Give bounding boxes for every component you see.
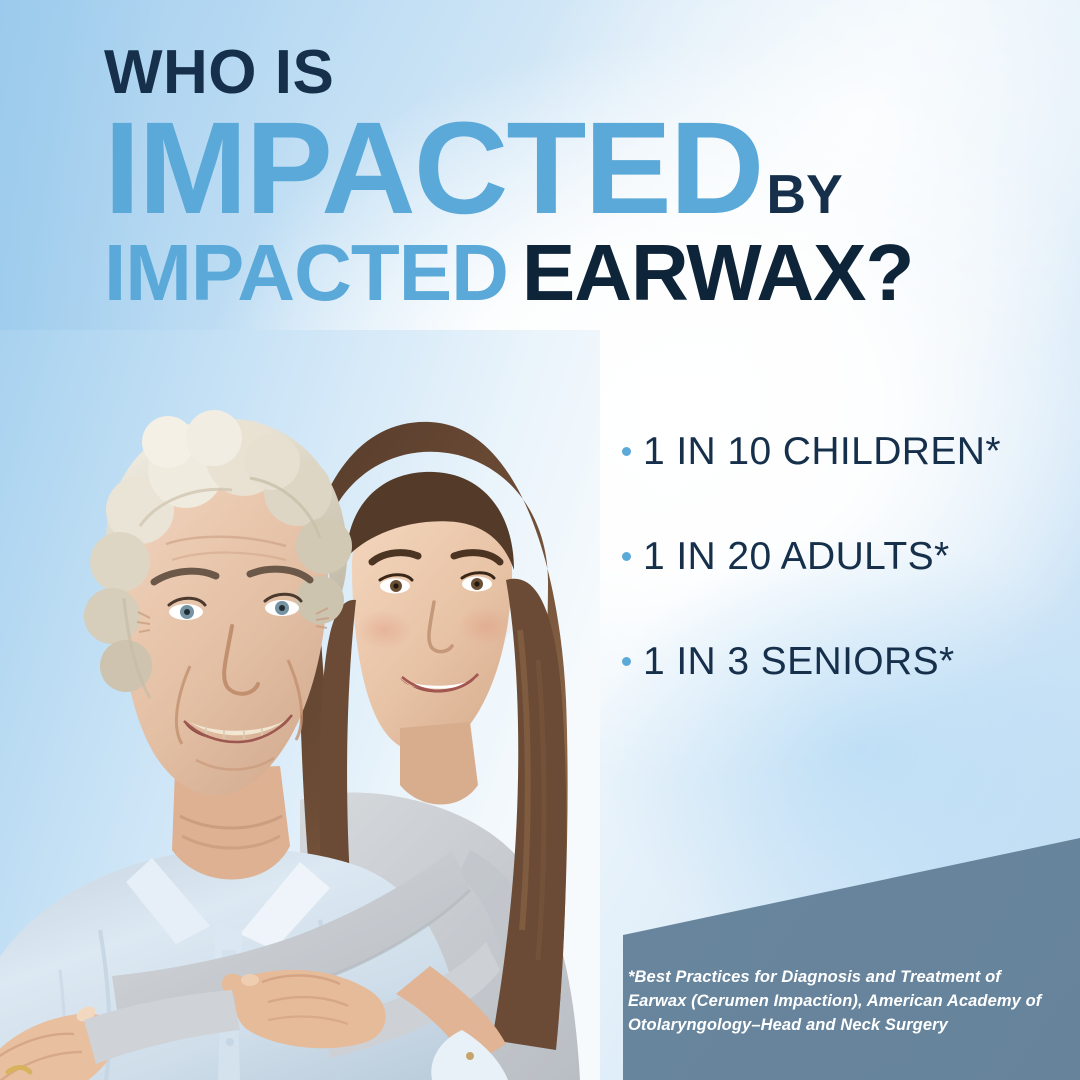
list-item: 1 IN 3 SENIORS* [622, 642, 1052, 681]
stat-label: 1 IN 3 SENIORS* [643, 642, 955, 681]
bullet-dot-icon [622, 657, 631, 666]
headline-earwax: EARWAX? [522, 228, 914, 317]
list-item: 1 IN 20 ADULTS* [622, 537, 1052, 576]
bullet-dot-icon [622, 447, 631, 456]
stats-list: 1 IN 10 CHILDREN* 1 IN 20 ADULTS* 1 IN 3… [622, 432, 1052, 681]
stat-label: 1 IN 20 ADULTS* [643, 537, 950, 576]
headline-by: BY [766, 163, 842, 225]
list-item: 1 IN 10 CHILDREN* [622, 432, 1052, 471]
headline-line-2: IMPACTEDBY [104, 106, 1034, 230]
poster-canvas: WHO IS IMPACTEDBY IMPACTEDEARWAX? 1 IN 1… [0, 0, 1080, 1080]
headline-impacted-small: IMPACTED [104, 228, 508, 317]
stat-label: 1 IN 10 CHILDREN* [643, 432, 1001, 471]
photo-two-women [0, 330, 600, 1080]
headline: WHO IS IMPACTEDBY IMPACTEDEARWAX? [104, 42, 1034, 314]
headline-impacted-large: IMPACTED [104, 94, 762, 241]
headline-line-3: IMPACTEDEARWAX? [104, 232, 1034, 314]
bullet-dot-icon [622, 552, 631, 561]
footnote-text: *Best Practices for Diagnosis and Treatm… [628, 966, 1058, 1038]
